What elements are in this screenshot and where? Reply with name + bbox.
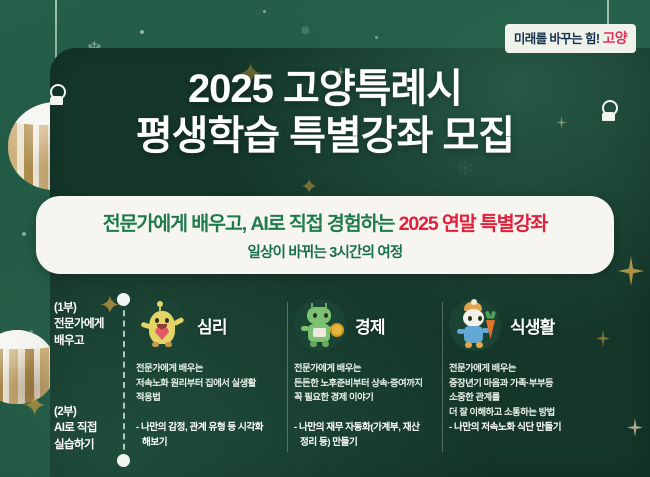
robot-foot bbox=[310, 341, 317, 347]
page-title: 2025 고양특례시 평생학습 특별강좌 모집 bbox=[0, 66, 650, 160]
course-header: 경제 bbox=[294, 298, 437, 352]
character-eye bbox=[468, 316, 472, 321]
title-line-2: 평생학습 특별강좌 모집 bbox=[0, 113, 650, 160]
course-column-diet[interactable]: 식생활 전문가에게 배우는 중장년기 마음과 가족·부부등 소중한 관계를 더 … bbox=[449, 298, 624, 420]
course-header: 식생활 bbox=[449, 298, 612, 352]
subtitle-red-text: 2025 연말 특별강좌 bbox=[399, 213, 548, 235]
course-header: 심리 bbox=[136, 298, 282, 352]
character-foot bbox=[465, 342, 472, 348]
character-eye bbox=[165, 318, 169, 323]
part-2-tag: (2부) bbox=[54, 404, 97, 420]
robot-antenna bbox=[311, 303, 313, 309]
course-practice: - 나만의 저속노화 식단 만들기 bbox=[449, 420, 610, 435]
character-hat-pom bbox=[471, 299, 477, 305]
course-column-economy[interactable]: 경제 전문가에게 배우는 든든한 노후준비부터 상속·증여까지 꼭 필요한 경제… bbox=[294, 298, 449, 420]
course-title: 식생활 bbox=[510, 313, 555, 338]
robot-eye bbox=[324, 313, 328, 318]
part-connector-rail bbox=[123, 300, 125, 460]
course-list: 심리 전문가에게 배우는 저속노화 원리부터 집에서 실생활 적용법 - 나만의… bbox=[136, 298, 640, 420]
subtitle-line-2: 일상이 바뀌는 3시간의 여정 bbox=[36, 241, 614, 262]
course-description: 전문가에게 배우는 저속노화 원리부터 집에서 실생활 적용법 bbox=[136, 361, 282, 405]
robot-foot bbox=[322, 341, 329, 347]
robot-screen bbox=[313, 328, 326, 337]
course-title: 경제 bbox=[355, 313, 385, 338]
sparkle-icon: ✦ bbox=[300, 176, 318, 198]
sparkle-icon: ✦ bbox=[22, 392, 47, 422]
course-column-psychology[interactable]: 심리 전문가에게 배우는 저속노화 원리부터 집에서 실생활 적용법 - 나만의… bbox=[136, 298, 294, 420]
carrot-leaf bbox=[490, 311, 496, 320]
part-2-text: AI로 직접 실습하기 bbox=[54, 420, 97, 453]
robot-arm bbox=[301, 326, 309, 331]
snowflake-icon: ❄ bbox=[456, 158, 474, 180]
part-1-tag: (1부) bbox=[54, 300, 104, 316]
character-foot bbox=[476, 342, 483, 348]
character-foot bbox=[152, 342, 159, 347]
course-description: 전문가에게 배우는 든든한 노후준비부터 상속·증여까지 꼭 필요한 경제 이야… bbox=[294, 361, 437, 405]
character-antenna-tip bbox=[157, 301, 163, 307]
course-description: 전문가에게 배우는 중장년기 마음과 가족·부부등 소중한 관계를 더 잘 이해… bbox=[449, 361, 612, 420]
snowflake-icon: ❅ bbox=[300, 24, 311, 37]
course-title: 심리 bbox=[197, 313, 227, 338]
subtitle-green-text: 전문가에게 배우고, AI로 직접 경험하는 bbox=[103, 213, 395, 235]
snow-dot bbox=[22, 232, 26, 236]
character-eye bbox=[155, 318, 159, 323]
title-line-1: 2025 고양특례시 bbox=[0, 66, 650, 113]
character-arm bbox=[172, 317, 184, 327]
subtitle-band: 전문가에게 배우고, AI로 직접 경험하는 2025 연말 특별강좌 일상이 … bbox=[36, 196, 614, 274]
robot-antenna bbox=[325, 303, 327, 309]
course-practice: - 나만의 재무 자동화(가계부, 재산 정리 등) 만들기 bbox=[294, 420, 435, 451]
column-divider bbox=[287, 302, 288, 452]
carrot-character-icon bbox=[449, 299, 501, 351]
part-label-1: (1부) 전문가에게 배우고 bbox=[54, 300, 104, 349]
character-foot bbox=[165, 342, 172, 347]
snow-dot bbox=[375, 36, 378, 39]
character-outfit bbox=[464, 326, 483, 343]
ornament-highlight bbox=[0, 330, 56, 349]
poster-canvas: ❄ ❅ ❄ ❅ ❄ ❅ ✦ ✦ ✦ ✦ bbox=[0, 0, 650, 477]
subtitle-line-1: 전문가에게 배우고, AI로 직접 경험하는 2025 연말 특별강좌 bbox=[36, 207, 614, 236]
city-logo-name: 고양 bbox=[602, 28, 627, 48]
part-label-2: (2부) AI로 직접 실습하기 bbox=[54, 404, 97, 453]
character-arm bbox=[457, 329, 465, 334]
city-logo-slogan: 미래를 바꾸는 힘! bbox=[514, 28, 600, 47]
snow-dot bbox=[140, 30, 144, 34]
coin-robot-character-icon bbox=[294, 299, 346, 351]
coin-icon bbox=[330, 323, 344, 337]
snow-dot bbox=[263, 10, 266, 13]
robot-eye bbox=[313, 313, 317, 318]
rail-node-bottom bbox=[117, 454, 130, 467]
column-divider bbox=[442, 302, 443, 452]
character-eye bbox=[478, 316, 482, 321]
heart-character-icon bbox=[136, 299, 188, 351]
course-practice: - 나만의 감정, 관계 유형 등 시각화 해보기 bbox=[136, 420, 280, 451]
part-1-text: 전문가에게 배우고 bbox=[54, 316, 104, 349]
city-logo: 미래를 바꾸는 힘! 고양 bbox=[505, 24, 636, 53]
rail-node-top bbox=[117, 293, 130, 306]
